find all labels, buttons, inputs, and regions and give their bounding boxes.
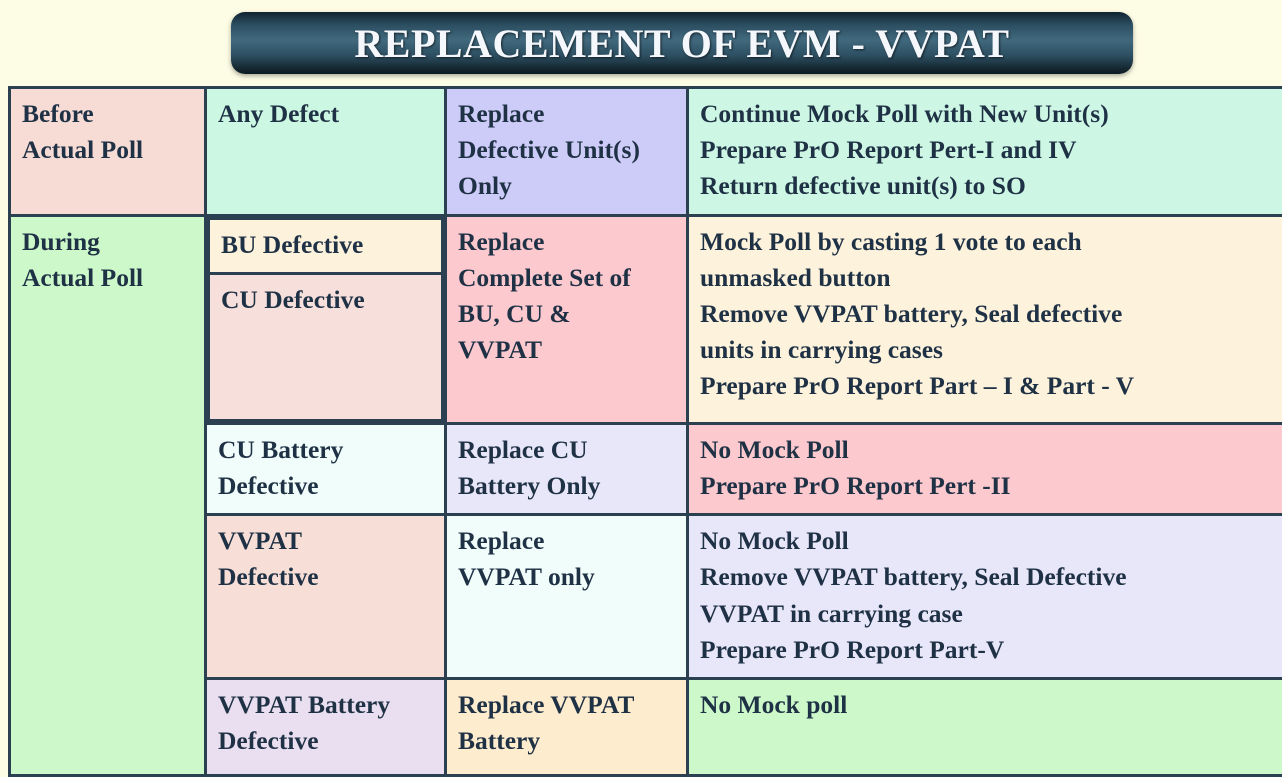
defect-label: Any Defect — [218, 96, 435, 132]
action-line1: Replace CU — [458, 432, 677, 468]
cell-procedure-before-actual-poll: Continue Mock Poll with New Unit(s) Prep… — [688, 88, 1282, 216]
defect-line1: CU Battery — [218, 432, 435, 468]
procedure-line3: Return defective unit(s) to SO — [700, 168, 1273, 204]
cell-defect-bu-cu-group: BU Defective CU Defective — [206, 215, 446, 423]
action-line3: BU, CU & — [458, 296, 677, 332]
cell-procedure-vvpat-battery-defective: No Mock poll — [688, 679, 1282, 776]
procedure-line2: Prepare PrO Report Pert -II — [700, 468, 1273, 504]
stage-label-line2: Actual Poll — [22, 132, 195, 168]
procedure-line2: Remove VVPAT battery, Seal Defective — [700, 559, 1273, 595]
action-line2: VVPAT only — [458, 559, 677, 595]
cell-defect-cu-battery-defective: CU Battery Defective — [206, 423, 446, 514]
action-line1: Replace — [458, 523, 677, 559]
procedure-line4: Prepare PrO Report Part-V — [700, 632, 1273, 668]
cell-action-replace-cu-battery: Replace CU Battery Only — [446, 423, 688, 514]
procedure-line1: Continue Mock Poll with New Unit(s) — [700, 96, 1273, 132]
replacement-matrix-table: Before Actual Poll Any Defect Replace De… — [8, 86, 1282, 777]
cell-action-replace-vvpat-only: Replace VVPAT only — [446, 515, 688, 679]
procedure-line3: Remove VVPAT battery, Seal defective — [700, 296, 1273, 332]
cell-defect-bu-defective: BU Defective — [209, 218, 443, 273]
procedure-line1: Mock Poll by casting 1 vote to each — [700, 224, 1273, 260]
defect-line1: VVPAT — [218, 523, 435, 559]
cell-action-replace-defective-units: Replace Defective Unit(s) Only — [446, 88, 688, 216]
slide-title-banner: REPLACEMENT OF EVM - VVPAT — [231, 12, 1133, 74]
table-row: CU Defective — [209, 273, 443, 420]
stage-label-line1: During — [22, 224, 195, 260]
cell-procedure-during-actual-poll: Mock Poll by casting 1 vote to each unma… — [688, 215, 1282, 423]
procedure-line5: Prepare PrO Report Part – I & Part - V — [700, 368, 1273, 404]
procedure-line2: Prepare PrO Report Pert-I and IV — [700, 132, 1273, 168]
action-line3: Only — [458, 168, 677, 204]
defect-label: CU Defective — [221, 282, 432, 318]
cell-defect-vvpat-battery-defective: VVPAT Battery Defective — [206, 679, 446, 776]
cell-stage-before-actual-poll: Before Actual Poll — [10, 88, 206, 216]
slide-root: REPLACEMENT OF EVM - VVPAT Before Actual… — [0, 0, 1282, 722]
cell-defect-vvpat-defective: VVPAT Defective — [206, 515, 446, 679]
cell-procedure-cu-battery-defective: No Mock Poll Prepare PrO Report Pert -II — [688, 423, 1282, 514]
procedure-line1: No Mock poll — [700, 687, 1273, 723]
page-title: REPLACEMENT OF EVM - VVPAT — [354, 20, 1009, 67]
action-line2: Battery Only — [458, 468, 677, 504]
action-line1: Replace — [458, 224, 677, 260]
action-line4: VVPAT — [458, 332, 677, 368]
defect-subtable: BU Defective CU Defective — [207, 217, 444, 422]
procedure-line3: VVPAT in carrying case — [700, 596, 1273, 632]
action-line2: Battery — [458, 723, 677, 759]
cell-action-replace-vvpat-battery: Replace VVPAT Battery — [446, 679, 688, 776]
action-line1: Replace VVPAT — [458, 687, 677, 723]
action-line2: Defective Unit(s) — [458, 132, 677, 168]
procedure-line1: No Mock Poll — [700, 523, 1273, 559]
defect-line2: Defective — [218, 723, 435, 759]
cell-action-replace-complete-set: Replace Complete Set of BU, CU & VVPAT — [446, 215, 688, 423]
table-row: During Actual Poll BU Defective — [10, 215, 1282, 423]
stage-label-line1: Before — [22, 96, 195, 132]
table-row: Before Actual Poll Any Defect Replace De… — [10, 88, 1282, 216]
defect-line2: Defective — [218, 559, 435, 595]
procedure-line1: No Mock Poll — [700, 432, 1273, 468]
action-line1: Replace — [458, 96, 677, 132]
procedure-line4: units in carrying cases — [700, 332, 1273, 368]
defect-line2: Defective — [218, 468, 435, 504]
cell-procedure-vvpat-defective: No Mock Poll Remove VVPAT battery, Seal … — [688, 515, 1282, 679]
table-row: BU Defective — [209, 218, 443, 273]
action-line2: Complete Set of — [458, 260, 677, 296]
procedure-line2: unmasked button — [700, 260, 1273, 296]
cell-stage-during-actual-poll: During Actual Poll — [10, 215, 206, 775]
defect-label: BU Defective — [221, 227, 432, 263]
defect-line1: VVPAT Battery — [218, 687, 435, 723]
cell-defect-any-defect: Any Defect — [206, 88, 446, 216]
stage-label-line2: Actual Poll — [22, 260, 195, 296]
cell-defect-cu-defective: CU Defective — [209, 273, 443, 420]
